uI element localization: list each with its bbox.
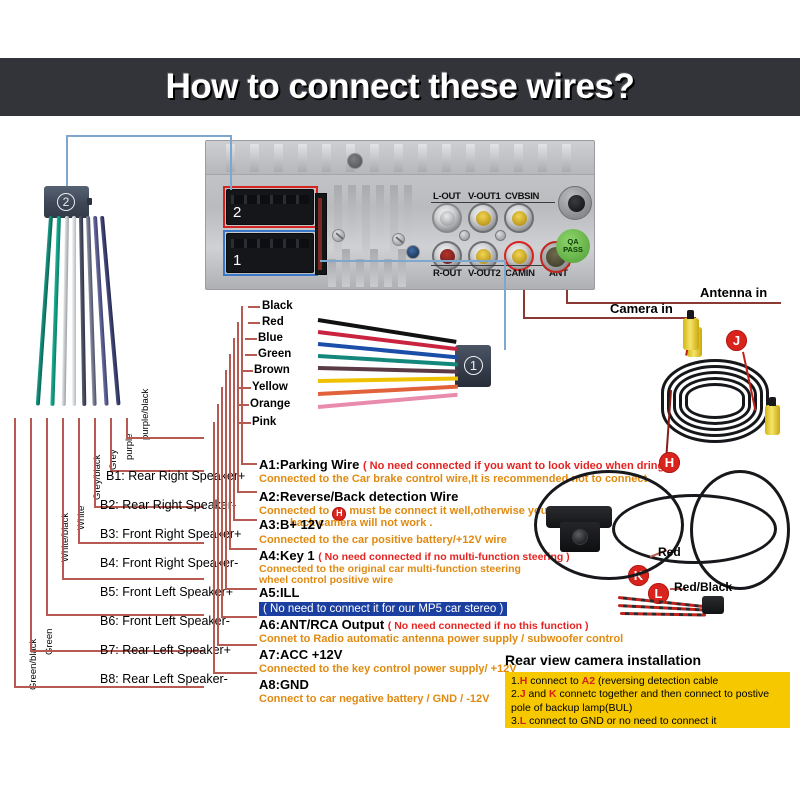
rca-jack-v-out1 [468,203,498,233]
marker-j: J [726,330,747,351]
pin-title-a3: A3:B+ 12V [259,518,324,532]
speaker-connector-number: 2 [57,193,75,211]
rvc-line-3: pole of backup lamp(BUL) [511,702,784,715]
rvc-line-4-num: 3. [511,715,520,727]
speaker-wire-label-b7: B7: Rear Left Speaker+ [100,644,231,657]
rear-view-install-box: 1.H connect to A2 (reversing detection c… [505,672,790,728]
antenna-post [558,186,592,220]
rvc-line-1-rest: (reversing detection cable [595,675,718,687]
rvc-line-4-mid: connect to GND or no need to connect it [526,715,716,727]
diagram-canvas: How to connect these wires? 2 [0,0,800,800]
camera-twisted-pair-3 [620,612,706,617]
page-title: How to connect these wires? [166,67,635,107]
rca-jack-cvbsin [504,203,534,233]
pin-desc-a7: Connected to the key control power suppl… [259,664,517,676]
rvc-line-2-rest: connetc together and then connect to pos… [557,688,769,700]
camera-wire-label-red-black: Red/Black [674,581,732,594]
camera-wire-label-red: Red [658,546,681,559]
guide-line-conn1-down [504,260,506,350]
camera-cable-barrel [702,596,724,614]
connector-1-highlight [223,230,318,276]
marker-h: H [659,452,680,473]
rca-label-l-out: L-OUT [433,191,461,202]
pin-title-a2: A2:Reverse/Back detection Wire [259,490,458,504]
wire-white-black [62,216,69,406]
qa-pass-sticker: QA PASS [556,229,590,263]
power-connector-number: 1 [464,356,483,375]
pin-title-a7: A7:ACC +12V [259,648,342,662]
guide-line-conn2-down [230,135,232,190]
wire-name-red: Red [262,316,284,328]
guide-line-conn1-horiz [320,260,505,262]
rvc-line-1-hi2: A2 [582,675,595,687]
rca-label-v-out1: V-OUT1 [468,191,501,202]
wire-grey-black [79,216,86,406]
pin-a2-desc-post: must be connect it well,otherwise your [349,505,551,517]
rvc-line-2-mid: and [526,688,549,700]
pin-title-a6: A6:ANT/RCA Output ( No need connected if… [259,618,588,632]
pin-a6-note: ( No need connected if no this function … [388,620,589,632]
wire-name-brown: Brown [254,364,290,376]
rca-label-camin: CAMIN [505,268,535,279]
camera-cable-loop-3 [690,470,790,590]
wire-name-orange: Orange [250,398,290,410]
wire-name-pink: Pink [252,416,276,428]
label-antenna-in: Antenna in [700,286,767,300]
antenna-rca-plug [683,318,699,350]
rvc-line-2: 2.J and K connetc together and then conn… [511,688,784,701]
pin-a5-highlight: ( No need to connect it for our MP5 car … [259,602,507,616]
speaker-wire-label-b8: B8: Rear Left Speaker- [100,673,228,686]
wire-yellow [318,377,458,383]
wire-name-yellow: Yellow [252,381,288,393]
guide-line-camin-up [523,290,525,318]
rca-jack-v-out2 [468,241,498,271]
rca-jack-r-out [432,241,462,271]
wire-name-blue: Blue [258,332,283,344]
pin-title-a8: A8:GND [259,678,309,692]
pin-a1-title-text: A1:Parking Wire [259,457,359,472]
speaker-harness-connector: 2 [44,186,89,218]
guide-line-camin-horiz [523,317,696,319]
pin-a2-desc-pre: Connected to [259,505,329,517]
speaker-wire-label-b6: B6: Front Left Speaker- [100,615,230,628]
rvc-line-1-num: 1. [511,675,520,687]
label-camera-in: Camera in [610,302,673,316]
wire-color-label-purple-black: purple/black [140,389,151,440]
pin-desc-a8: Connect to car negative battery / GND / … [259,694,489,706]
rvc-line-1: 1.H connect to A2 (reversing detection c… [511,675,784,688]
pin-desc-a3: Connected to the car positive battery/+1… [259,535,507,547]
pin-a4-title-text: A4:Key 1 [259,548,315,563]
guide-line-conn2-top [66,135,68,187]
wire-name-black: Black [262,300,293,312]
power-harness-connector: 1 [455,345,491,387]
pin-a4-note: ( No need connected if no multi-function… [318,551,569,563]
pin-a1-note: ( No need connected if you want to look … [363,460,671,472]
rvc-line-2-num: 2. [511,688,520,700]
pin-title-a4: A4:Key 1 ( No need connected if no multi… [259,549,570,563]
wire-white [72,216,76,406]
qa-line-2: PASS [563,246,583,254]
header-bar: How to connect these wires? [0,58,800,116]
pin-desc-a6: Connet to Radio automatic antenna power … [259,634,623,646]
rca-jack-camin [504,241,534,271]
antenna-socket-side [315,193,327,275]
guide-line-ant-horiz [566,302,781,304]
rca-label-cvbsin: CVBSIN [505,191,539,202]
car-stereo-rear-panel: 2 1 L-OUT V-OUT1 CVBSIN R-OUT V-OUT2 CAM… [205,140,595,290]
guide-line-conn2-horiz [66,135,231,137]
wire-pink [318,393,458,409]
rvc-line-4: 3.L connect to GND or no need to connect… [511,715,784,728]
pin-title-a5: A5:ILL [259,586,299,600]
rca-label-v-out2: V-OUT2 [468,268,501,279]
camera-cable-rca-plug-right [765,405,780,435]
rca-label-r-out: R-OUT [433,268,462,279]
connector-2-highlight [223,186,318,228]
wire-brown [318,366,458,374]
rca-jack-l-out [432,203,462,233]
wire-name-green: Green [258,348,291,360]
rvc-line-1-mid: connect to [527,675,581,687]
camera-extension-cable [655,345,785,455]
rear-view-install-title: Rear view camera installation [505,652,701,668]
speaker-wire-label-b2: B2: Rear Right Speaker- [100,499,236,512]
wire-green [50,216,61,406]
pin-a6-title-text: A6:ANT/RCA Output [259,617,384,632]
rvc-line-2-hi2: K [549,688,557,700]
